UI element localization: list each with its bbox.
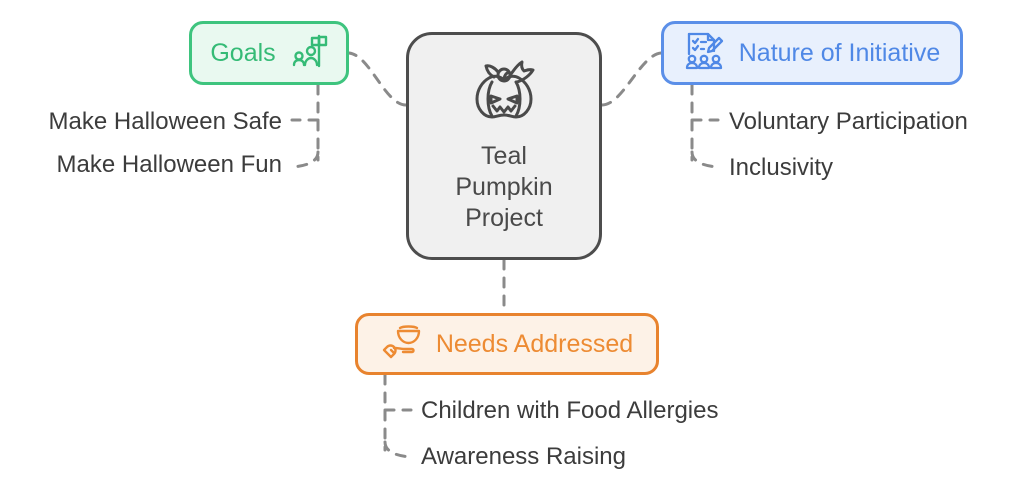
branch-node-needs-label: Needs Addressed [436,330,633,359]
leaf-goals-2: Make Halloween Fun [57,151,282,179]
branch-node-goals[interactable]: Goals [189,21,349,85]
leaf-needs-1: Children with Food Allergies [421,397,718,425]
mindmap-diagram: Teal Pumpkin Project Goals [0,0,1024,490]
central-node-label: Teal Pumpkin Project [455,141,552,234]
branch-node-nature[interactable]: Nature of Initiative [661,21,963,85]
leaf-needs-2: Awareness Raising [421,443,626,471]
flag-team-icon [290,32,328,75]
jack-o-lantern-icon [465,58,543,129]
connector-goals-leaf-fun [292,152,318,167]
connector-central-nature [602,53,661,105]
connector-needs-leaf-awareness [385,442,411,457]
connector-central-goals [349,53,406,105]
leaf-goals-1: Make Halloween Safe [49,108,282,136]
leaf-nature-2: Inclusivity [729,154,833,182]
central-label-line-1: Teal [455,141,552,172]
checklist-signup-icon [684,31,726,76]
central-node[interactable]: Teal Pumpkin Project [406,32,602,260]
connector-nature-leaf-inclusivity [692,152,718,167]
branch-node-goals-label: Goals [210,39,275,68]
branch-node-nature-label: Nature of Initiative [739,39,941,68]
branch-node-needs[interactable]: Needs Addressed [355,313,659,375]
leaf-nature-1: Voluntary Participation [729,108,968,136]
central-label-line-2: Pumpkin [455,172,552,203]
central-label-line-3: Project [455,203,552,234]
hand-holding-bowl-icon [381,323,423,366]
